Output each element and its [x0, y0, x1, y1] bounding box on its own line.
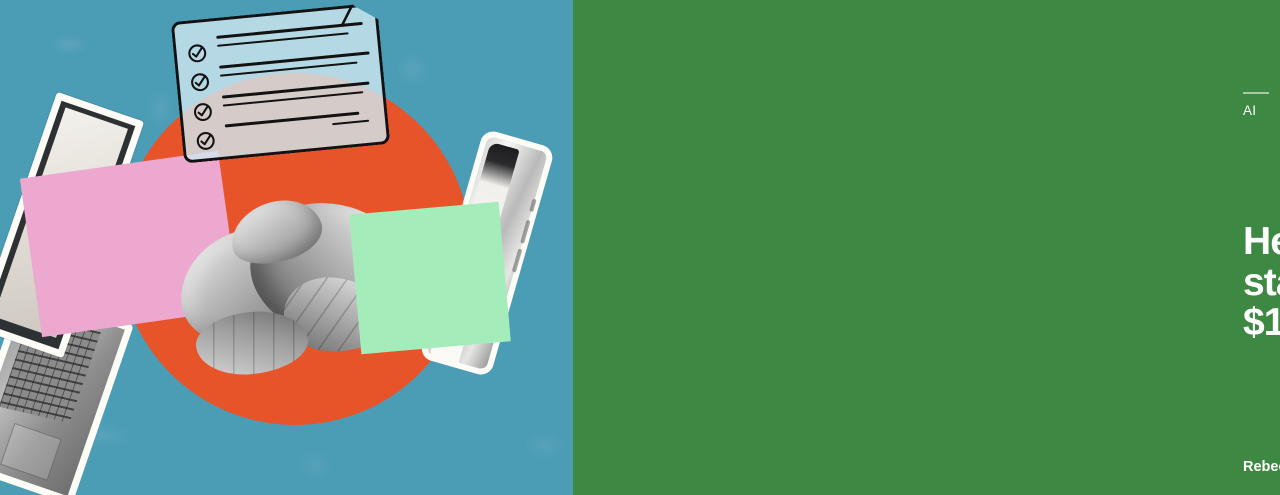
phone-button-volume-up	[520, 220, 530, 244]
checklist-document	[171, 2, 391, 163]
checkmark-circle-icon	[195, 131, 216, 152]
category-rule	[1243, 92, 1269, 94]
laptop-trackpad	[0, 423, 62, 481]
mint-sleeve-shape	[349, 202, 511, 355]
article-panel: AI	[573, 0, 1280, 495]
checkmark-circle-icon	[193, 102, 214, 123]
article-hero-page: AI	[0, 0, 1280, 495]
category-label[interactable]: AI	[1243, 100, 1256, 118]
article-meta-row: AI	[1243, 100, 1280, 118]
article-byline: Rebecca Szkutak 12:48 PM PST · November …	[1243, 459, 1280, 475]
phone-button-volume-down	[512, 248, 522, 272]
category-wrapper: AI	[1243, 100, 1256, 118]
author-name[interactable]: Rebecca Szkutak	[1243, 459, 1280, 475]
article-headline: Here are the 49 US AI startups that have…	[1243, 222, 1280, 344]
checkmark-circle-icon	[187, 43, 208, 64]
phone-button-mute	[529, 199, 536, 213]
hero-illustration	[0, 0, 573, 495]
checkmark-circle-icon	[190, 72, 211, 93]
